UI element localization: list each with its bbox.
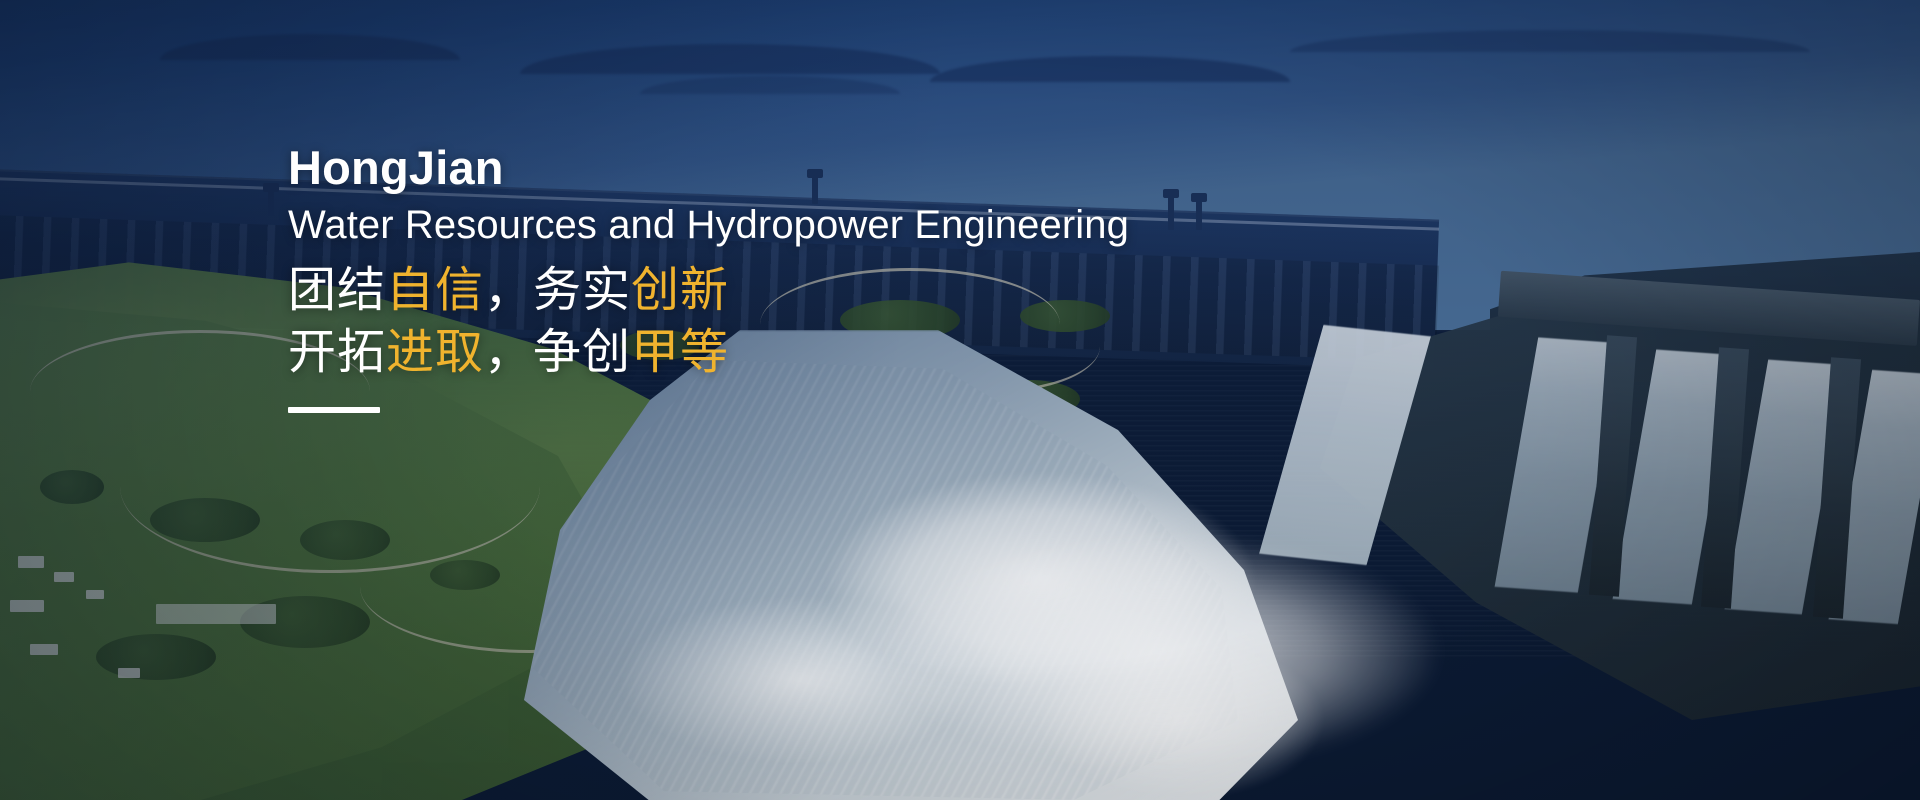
slogan-2-segment-gold-b: 甲等 (631, 326, 729, 379)
slogan-2-segment-white-b: ，争创 (484, 326, 631, 379)
slogan-1-segment-gold-a: 自信 (386, 264, 484, 317)
brand-subtitle: Water Resources and Hydropower Engineeri… (288, 201, 1129, 250)
spillway-mist (780, 470, 1540, 800)
slogan-2-segment-white-a: 开拓 (288, 326, 386, 379)
village-building (156, 604, 276, 624)
dam-tower-1 (268, 190, 274, 216)
slogan-1-segment-white-a: 团结 (288, 264, 386, 317)
village-building (54, 572, 74, 582)
brand-title: HongJian (288, 140, 1129, 195)
slogan-2-segment-gold-a: 进取 (386, 326, 484, 379)
tree-cluster (96, 634, 216, 680)
accent-underline (288, 407, 380, 413)
village-building (86, 590, 104, 599)
tree-cluster (40, 470, 104, 504)
slogan-1-segment-gold-b: 创新 (631, 264, 729, 317)
hero-banner: HongJian Water Resources and Hydropower … (0, 0, 1920, 800)
dam-tower-3 (1168, 196, 1174, 230)
dam-tower-4 (1196, 200, 1202, 230)
slogan-line-2: 开拓进取，争创甲等 (288, 322, 1129, 383)
village-building (30, 644, 58, 655)
village-building (18, 556, 44, 568)
slogan-1-segment-white-b: ，务实 (484, 264, 631, 317)
slogan-line-1: 团结自信，务实创新 (288, 260, 1129, 321)
village-building (118, 668, 140, 678)
hero-copy-block: HongJian Water Resources and Hydropower … (288, 140, 1129, 413)
village-building (10, 600, 44, 612)
